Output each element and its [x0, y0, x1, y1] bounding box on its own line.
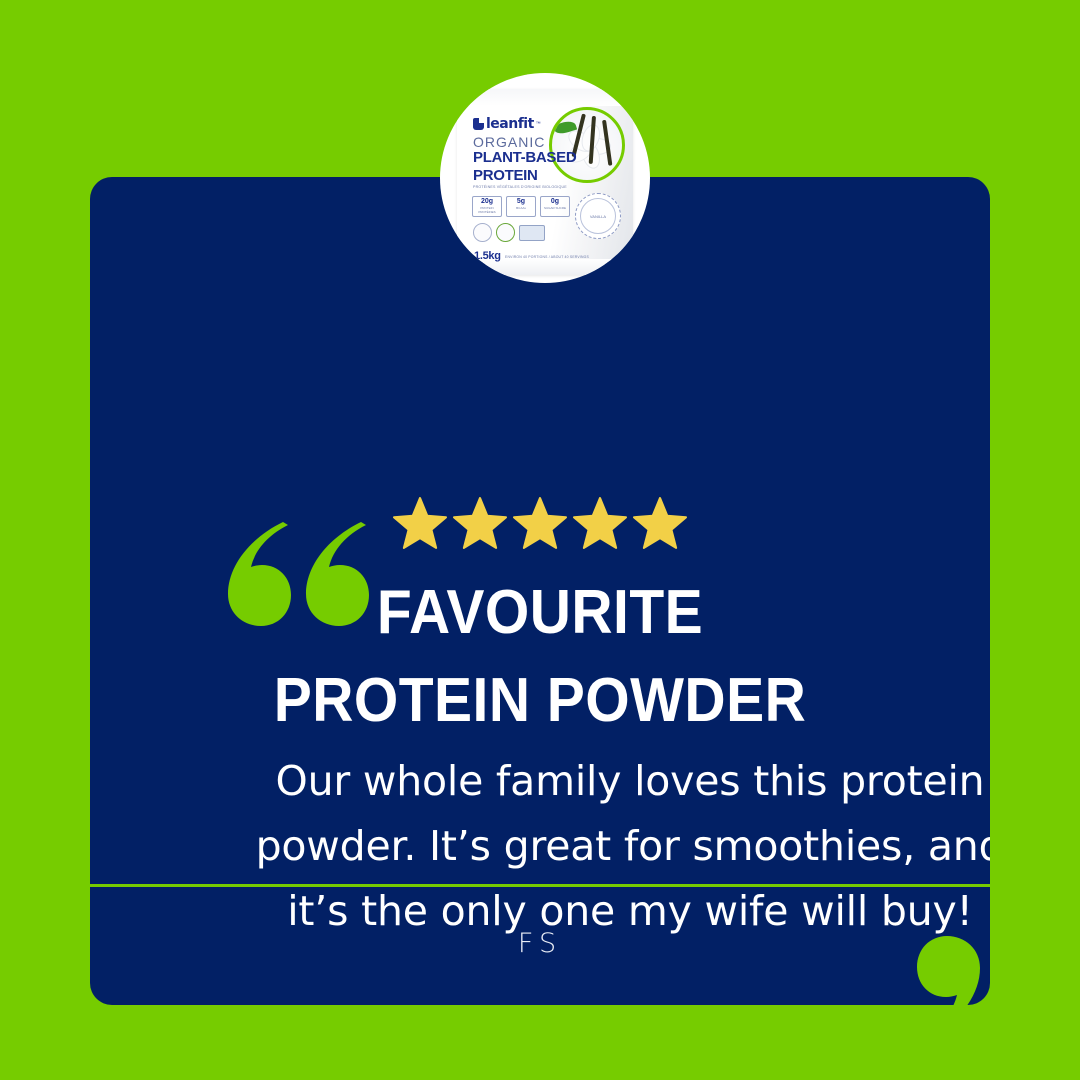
usda-organic-badge-icon: [496, 223, 515, 242]
star-icon: [393, 497, 447, 549]
product-pouch: leanfit ™ ORGANIC PLANT-BASED PROTEIN PR…: [457, 89, 633, 275]
product-line-protein: PROTEIN: [473, 167, 538, 184]
review-author: FS: [90, 928, 990, 959]
nutrition-stat: 0g SUGAR SUCRE: [540, 196, 570, 217]
brand-name: leanfit: [486, 117, 534, 131]
stat-value: 20g: [473, 198, 501, 206]
product-line-plant-based: PLANT-BASED: [473, 149, 576, 166]
star-icon: [573, 497, 627, 549]
stat-value: 5g: [507, 198, 535, 206]
nutrition-stats: 20g PROTEIN PROTÉINES 5g BCAAs 0g SUGAR …: [472, 196, 570, 217]
pouch-top-seal: [457, 89, 633, 106]
star-rating: [90, 497, 990, 549]
nutrition-stat: 20g PROTEIN PROTÉINES: [472, 196, 502, 217]
testimonial-graphic: FAVOURITE PROTEIN POWDER Our whole famil…: [0, 0, 1080, 1080]
product-weight: 1.5kg: [474, 250, 501, 262]
headline-line-2: PROTEIN POWDER: [126, 657, 954, 745]
trademark-symbol: ™: [536, 121, 541, 127]
product-weight-note: ENVIRON 40 PORTIONS / ABOUT 40 SERVINGS: [505, 255, 589, 259]
review-body-line-1: Our whole family loves this protein: [185, 749, 990, 814]
vanilla-seal-icon: VANILLA: [575, 193, 621, 239]
review-body-line-2: powder. It’s great for smoothies, and: [185, 814, 990, 879]
vanilla-flower-icon: [549, 107, 625, 183]
star-icon: [453, 497, 507, 549]
nutrition-stat: 5g BCAAs: [506, 196, 536, 217]
review-body: Our whole family loves this protein powd…: [185, 749, 990, 944]
stat-label: SUGAR SUCRE: [541, 206, 569, 210]
stat-value: 0g: [541, 198, 569, 206]
leanfit-mark-icon: [473, 118, 484, 130]
star-icon: [633, 497, 687, 549]
stat-label: BCAAs: [507, 206, 535, 210]
seal-label: VANILLA: [580, 198, 616, 234]
brand-logo: leanfit ™: [473, 117, 541, 131]
star-icon: [513, 497, 567, 549]
stat-label: PROTEIN PROTÉINES: [473, 206, 501, 214]
product-subtitle: PROTÉINES VÉGÉTALES D'ORIGINE BIOLOGIQUE: [473, 185, 567, 189]
non-gmo-badge-icon: [473, 223, 492, 242]
review-headline: FAVOURITE PROTEIN POWDER: [126, 569, 954, 745]
divider: [90, 884, 990, 887]
review-card: FAVOURITE PROTEIN POWDER Our whole famil…: [90, 177, 990, 1005]
product-line-organic: ORGANIC: [473, 134, 545, 150]
product-image: leanfit ™ ORGANIC PLANT-BASED PROTEIN PR…: [440, 73, 650, 283]
certification-badges: [473, 223, 545, 242]
info-panel-badge-icon: [519, 225, 545, 241]
headline-line-1: FAVOURITE: [126, 569, 954, 657]
